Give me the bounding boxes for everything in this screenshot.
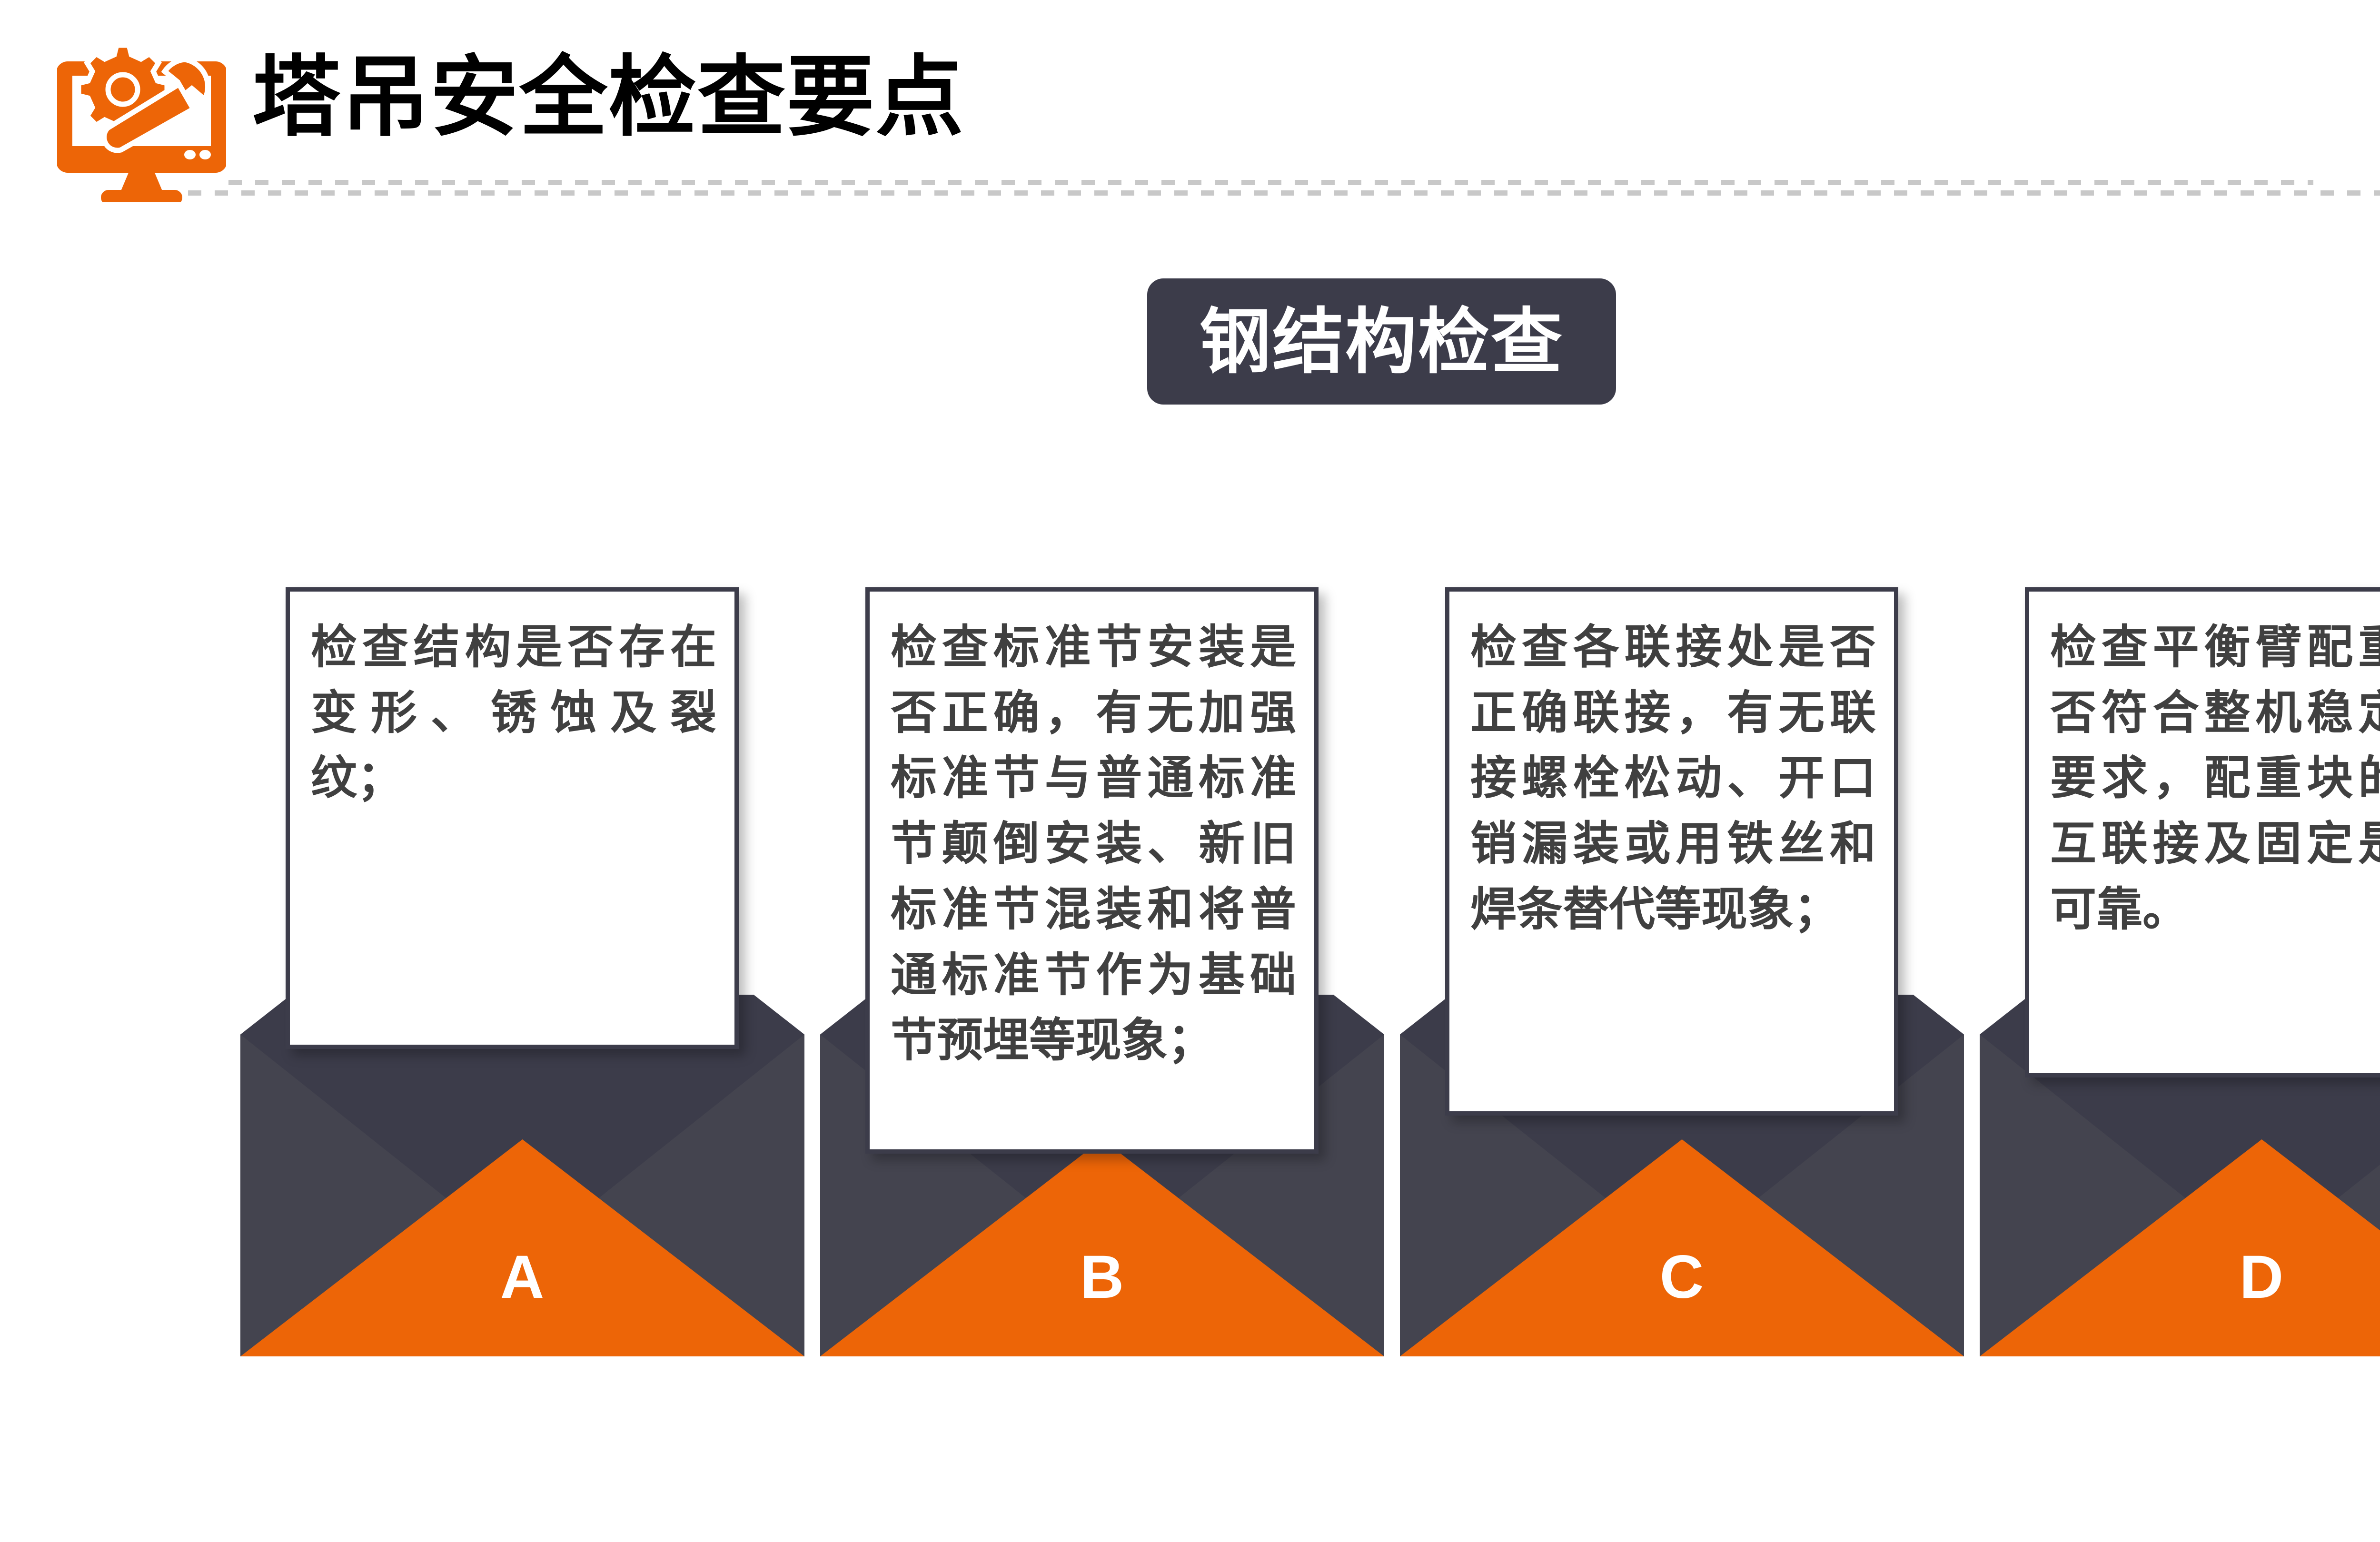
checkpoint-card-group: A 检查结构是否存在变形、锈蚀及裂纹； B 检查标准节安装是否正确，有无加强标准… — [0, 0, 2380, 1542]
envelope-letter-d: D — [1980, 1247, 2380, 1308]
checkpoint-item-d[interactable]: D 检查平衡臂配重是否符合整机稳定性要求，配重块的相互联接及固定是否可靠。 — [1877, 0, 2380, 1542]
checkpoint-card-d: 检查平衡臂配重是否符合整机稳定性要求，配重块的相互联接及固定是否可靠。 — [2025, 587, 2380, 1077]
checkpoint-card-c-text: 检查各联接处是否正确联接，有无联接螺栓松动、开口销漏装或用铁丝和焊条替代等现象； — [1470, 614, 1876, 942]
checkpoint-card-a: 检查结构是否存在变形、锈蚀及裂纹； — [286, 587, 739, 1049]
checkpoint-card-d-text: 检查平衡臂配重是否符合整机稳定性要求，配重块的相互联接及固定是否可靠。 — [2050, 614, 2380, 942]
checkpoint-card-b: 检查标准节安装是否正确，有无加强标准节与普通标准节颠倒安装、新旧标准节混装和将普… — [865, 587, 1319, 1154]
checkpoint-card-c: 检查各联接处是否正确联接，有无联接螺栓松动、开口销漏装或用铁丝和焊条替代等现象； — [1445, 587, 1898, 1116]
checkpoint-item-a[interactable]: A 检查结构是否存在变形、锈蚀及裂纹； — [138, 0, 728, 1542]
checkpoint-card-b-text: 检查标准节安装是否正确，有无加强标准节与普通标准节颠倒安装、新旧标准节混装和将普… — [891, 614, 1296, 1073]
checkpoint-item-b[interactable]: B 检查标准节安装是否正确，有无加强标准节与普通标准节颠倒安装、新旧标准节混装和… — [718, 0, 1308, 1542]
checkpoint-card-a-text: 检查结构是否存在变形、锈蚀及裂纹； — [311, 614, 716, 811]
checkpoint-item-c[interactable]: C 检查各联接处是否正确联接，有无联接螺栓松动、开口销漏装或用铁丝和焊条替代等现… — [1298, 0, 1888, 1542]
